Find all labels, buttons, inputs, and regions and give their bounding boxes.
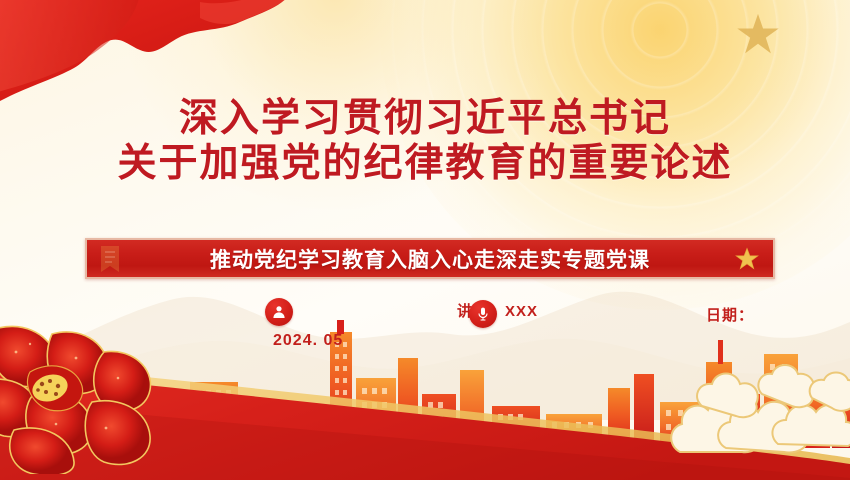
info-presenter-block: 讲人：XXX	[455, 300, 538, 321]
page-title: 深入学习贯彻习近平总书记 关于加强党的纪律教育的重要论述	[0, 96, 850, 186]
poster-content: 深入学习贯彻习近平总书记 关于加强党的纪律教育的重要论述 推动党纪学习教育入脑入…	[0, 0, 850, 480]
subtitle-banner: 推动党纪学习教育入脑入心走深走实专题党课	[85, 238, 775, 279]
person-date-text: 2024. 05	[273, 332, 343, 350]
info-person-block: 2024. 05	[265, 298, 343, 350]
gold-star-icon	[735, 247, 759, 271]
title-line-1: 深入学习贯彻习近平总书记	[0, 96, 850, 141]
title-line-2: 关于加强党的纪律教育的重要论述	[0, 141, 850, 186]
date-label-text: 日期：	[706, 304, 754, 325]
person-icon	[265, 298, 293, 326]
microphone-icon	[469, 300, 497, 328]
info-row: 2024. 05 讲人：XXX 日期：	[0, 298, 850, 358]
party-emblem-icon	[97, 244, 123, 274]
subtitle-banner-text: 推动党纪学习教育入脑入心走深走实专题党课	[210, 244, 650, 274]
poster-canvas: 深入学习贯彻习近平总书记 关于加强党的纪律教育的重要论述 推动党纪学习教育入脑入…	[0, 0, 850, 480]
info-date-label-block: 日期：	[706, 304, 754, 325]
